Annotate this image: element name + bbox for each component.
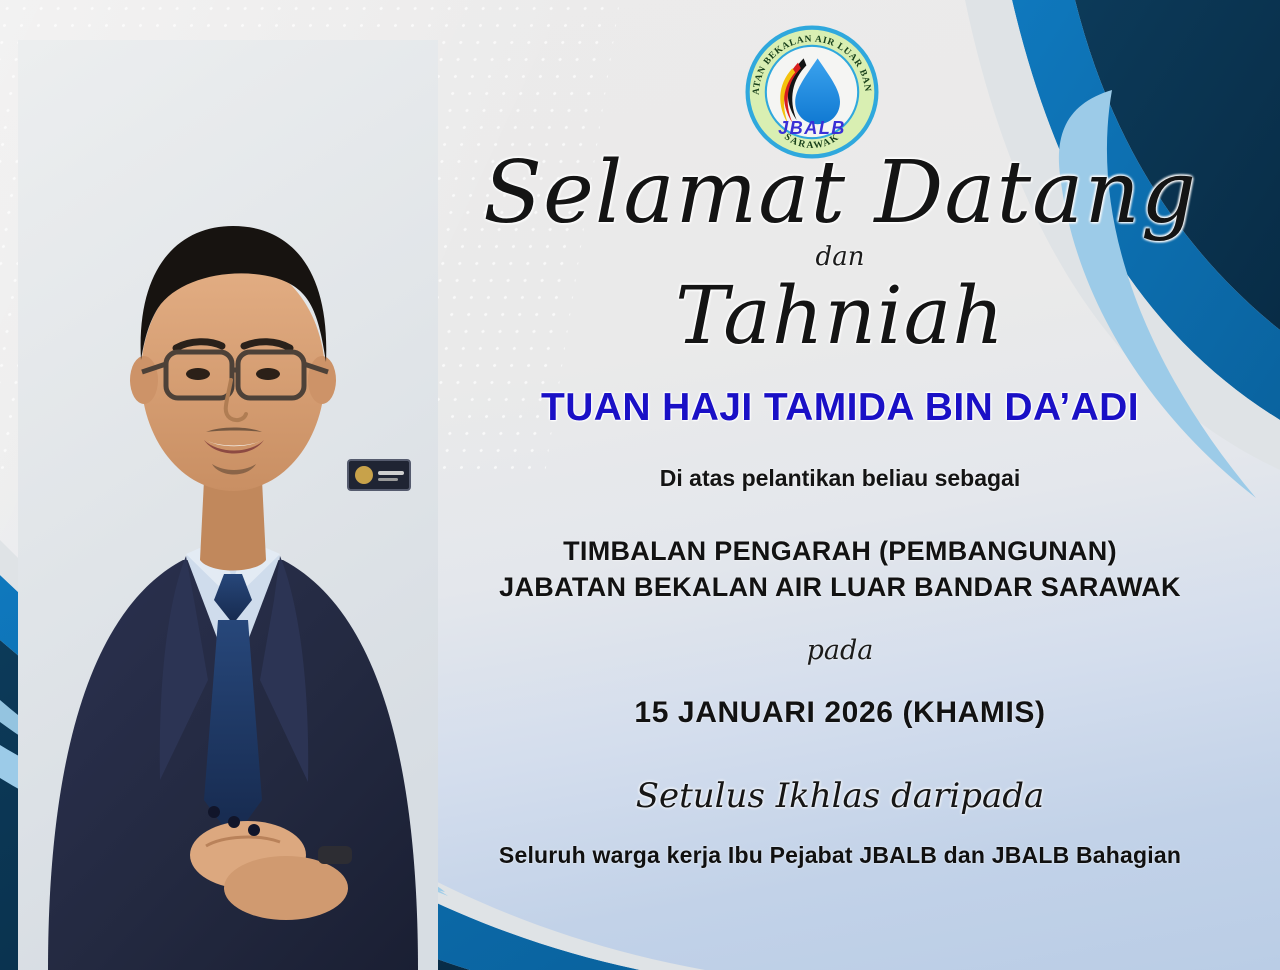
ear-right [308,356,336,404]
honoree-portrait [18,40,438,970]
jbalb-logo: JABATAN BEKALAN AIR LUAR BANDAR SARAWAK … [742,22,882,162]
portrait-illustration [18,40,438,970]
hand-lower [224,856,348,920]
greeting-connector: dan [440,242,1240,272]
eye-right [256,368,280,380]
appointment-intro: Di atas pelantikan beliau sebagai [440,465,1240,492]
role-line-1: TIMBALAN PENGARAH (PEMBANGUNAN) [440,534,1240,570]
role-line-2: JABATAN BEKALAN AIR LUAR BANDAR SARAWAK [440,570,1240,606]
date-label: pada [440,635,1240,666]
greeting-secondary: Tahniah [440,276,1240,356]
date-value: 15 JANUARI 2026 (KHAMIS) [440,696,1240,730]
honoree-name: TUAN HAJI TAMIDA BIN DA’ADI [440,386,1240,430]
appointment-role: TIMBALAN PENGARAH (PEMBANGUNAN) JABATAN … [440,534,1240,605]
regards-script: Setulus Ikhlas daripada [440,776,1240,816]
logo-wordmark: JBALB [778,118,846,138]
neck [200,480,266,571]
announcement-content: Selamat Datang dan Tahniah TUAN HAJI TAM… [440,150,1240,869]
from-line: Seluruh warga kerja Ibu Pejabat JBALB da… [440,842,1240,869]
wristwatch [318,846,352,864]
name-badge [348,460,410,490]
greeting-primary: Selamat Datang [440,150,1240,236]
ear-left [130,356,158,404]
eye-left [186,368,210,380]
poster-canvas: JABATAN BEKALAN AIR LUAR BANDAR SARAWAK … [0,0,1280,970]
